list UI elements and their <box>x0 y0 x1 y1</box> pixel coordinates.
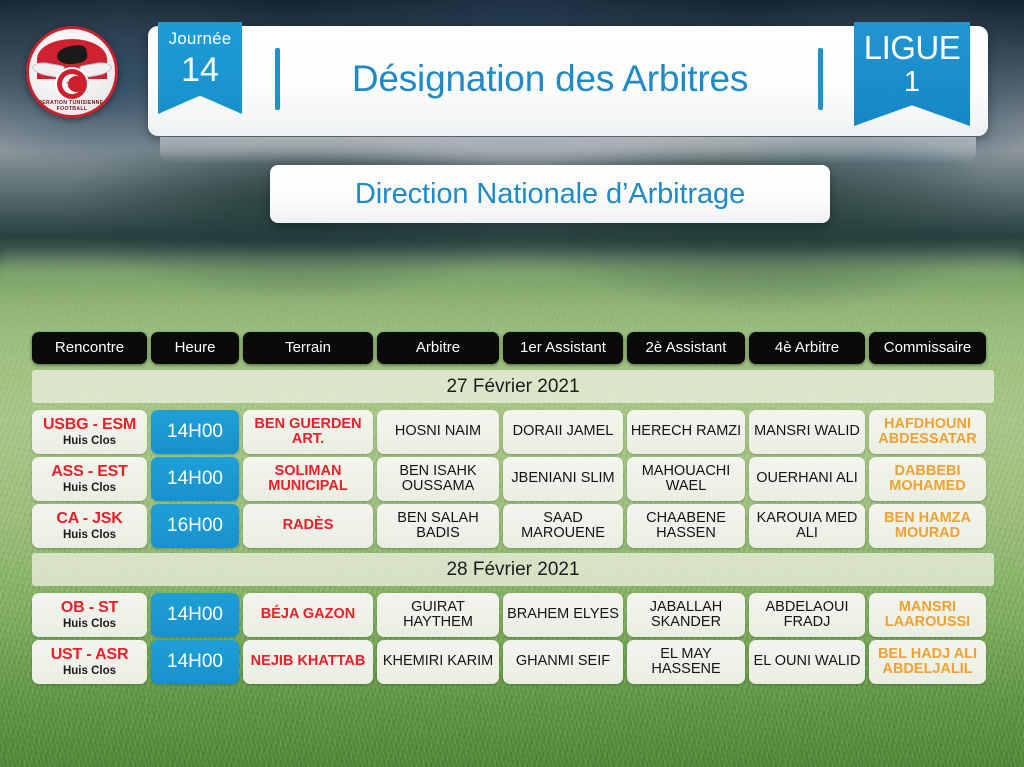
cell-heure: 14H00 <box>151 457 239 501</box>
table-body: 27 Février 2021USBG - ESMHuis Clos14H00B… <box>32 370 994 684</box>
cell-line: SAAD <box>543 511 583 526</box>
cell-rencontre: ASS - ESTHuis Clos <box>32 457 147 501</box>
cell-rencontre: OB - STHuis Clos <box>32 593 147 637</box>
cell-line: OUERHANI ALI <box>756 471 858 486</box>
cell-line: OUSSAMA <box>402 479 475 494</box>
match-note: Huis Clos <box>63 618 116 630</box>
cell-line: HOSNI NAIM <box>395 424 481 439</box>
cell-line: HAYTHEM <box>403 615 473 630</box>
cell-rencontre: UST - ASRHuis Clos <box>32 640 147 684</box>
cell-terrain: NEJIB KHATTAB <box>243 640 373 684</box>
cell-arbitre: BEN SALAHBADIS <box>377 504 499 548</box>
cell-commissaire: MANSRILAAROUSSI <box>869 593 986 637</box>
cell-arbitre-4: ABDELAOUIFRADJ <box>749 593 865 637</box>
table-row: UST - ASRHuis Clos14H00NEJIB KHATTABKHEM… <box>32 640 994 684</box>
table-row: OB - STHuis Clos14H00BÉJA GAZONGUIRATHAY… <box>32 593 994 637</box>
cell-rencontre: CA - JSKHuis Clos <box>32 504 147 548</box>
cell-line: GHANMI SEIF <box>516 654 610 669</box>
cell-commissaire: HAFDHOUNIABDESSATAR <box>869 410 986 454</box>
cell-line: MUNICIPAL <box>268 479 347 494</box>
star-icon: ★ <box>65 77 77 90</box>
cell-heure: 14H00 <box>151 593 239 637</box>
crest-caption: FEDERATION TUNISIENNE DE FOOTBALL <box>29 100 115 112</box>
column-header-arbitre: Arbitre <box>377 332 499 364</box>
matchday-number: 14 <box>158 49 242 89</box>
table-row: CA - JSKHuis Clos16H00RADÈSBEN SALAHBADI… <box>32 504 994 548</box>
cell-arbitre: KHEMIRI KARIM <box>377 640 499 684</box>
cell-assistant-2: CHAABENEHASSEN <box>627 504 745 548</box>
cell-line: ALI <box>796 526 818 541</box>
cell-line: SOLIMAN <box>275 464 342 479</box>
cell-line: BEN ISAHK <box>399 464 476 479</box>
cell-assistant-2: MAHOUACHIWAEL <box>627 457 745 501</box>
league-number: 1 <box>854 67 970 97</box>
cell-assistant-1: BRAHEM ELYES <box>503 593 623 637</box>
cell-assistant-2: JABALLAHSKANDER <box>627 593 745 637</box>
cell-line: BÉJA GAZON <box>261 607 356 622</box>
cell-assistant-1: SAADMAROUENE <box>503 504 623 548</box>
cell-arbitre: BEN ISAHKOUSSAMA <box>377 457 499 501</box>
cell-assistant-2: HERECH RAMZI <box>627 410 745 454</box>
federation-logo-icon: ★ FEDERATION TUNISIENNE DE FOOTBALL <box>26 26 118 118</box>
cell-line: JBENIANI SLIM <box>511 471 614 486</box>
cell-line: MANSRI <box>899 600 956 615</box>
cell-line: KHEMIRI KARIM <box>383 654 493 669</box>
cell-terrain: BEN GUERDENART. <box>243 410 373 454</box>
cell-assistant-1: GHANMI SEIF <box>503 640 623 684</box>
column-header-rencontre: Rencontre <box>32 332 147 364</box>
cell-terrain: RADÈS <box>243 504 373 548</box>
cell-arbitre: HOSNI NAIM <box>377 410 499 454</box>
cell-line: BEL HADJ ALI <box>878 647 977 662</box>
column-header-assistant-1: 1er Assistant <box>503 332 623 364</box>
cell-arbitre: GUIRATHAYTHEM <box>377 593 499 637</box>
match-note: Huis Clos <box>63 529 116 541</box>
cell-line: BEN SALAH <box>397 511 478 526</box>
subtitle-text: Direction Nationale d’Arbitrage <box>355 178 745 211</box>
cell-line: HASSENE <box>651 662 720 677</box>
cell-line: MANSRI WALID <box>754 424 860 439</box>
date-separator-row: 28 Février 2021 <box>32 553 994 586</box>
cell-arbitre-4: EL OUNI WALID <box>749 640 865 684</box>
match-note: Huis Clos <box>63 435 116 447</box>
cell-line: LAAROUSSI <box>885 615 970 630</box>
cell-commissaire: DABBEBIMOHAMED <box>869 457 986 501</box>
cell-line: ABDELJALIL <box>882 662 972 677</box>
cell-line: RADÈS <box>283 518 334 533</box>
page-title: Désignation des Arbitres <box>300 58 800 100</box>
cell-heure: 14H00 <box>151 410 239 454</box>
cell-line: BEN HAMZA <box>884 511 971 526</box>
cell-line: DORAII JAMEL <box>513 424 614 439</box>
cell-line: WAEL <box>666 479 707 494</box>
cell-line: FRADJ <box>784 615 831 630</box>
cell-line: BADIS <box>416 526 460 541</box>
cell-line: EL OUNI WALID <box>754 654 861 669</box>
match-code: OB - ST <box>61 600 118 617</box>
match-note: Huis Clos <box>63 665 116 677</box>
cell-assistant-1: JBENIANI SLIM <box>503 457 623 501</box>
column-header-arbitre-4: 4è Arbitre <box>749 332 865 364</box>
cell-arbitre-4: MANSRI WALID <box>749 410 865 454</box>
cell-line: NEJIB KHATTAB <box>251 654 366 669</box>
referee-assignments-table: RencontreHeureTerrainArbitre1er Assistan… <box>32 332 994 687</box>
cell-assistant-1: DORAII JAMEL <box>503 410 623 454</box>
poster-root: ★ FEDERATION TUNISIENNE DE FOOTBALL Jour… <box>0 0 1024 767</box>
cell-terrain: BÉJA GAZON <box>243 593 373 637</box>
cell-line: MOURAD <box>895 526 960 541</box>
cell-line: GUIRAT <box>411 600 465 615</box>
header-divider-left <box>275 48 280 110</box>
cell-line: HERECH RAMZI <box>631 424 741 439</box>
matchday-label: Journée <box>158 22 242 49</box>
cell-line: KAROUIA MED <box>757 511 858 526</box>
column-header-terrain: Terrain <box>243 332 373 364</box>
cell-line: JABALLAH <box>650 600 723 615</box>
header-reflection <box>160 137 976 163</box>
cell-rencontre: USBG - ESMHuis Clos <box>32 410 147 454</box>
column-header-commissaire: Commissaire <box>869 332 986 364</box>
cell-line: SKANDER <box>651 615 721 630</box>
cell-line: DABBEBI <box>894 464 960 479</box>
match-note: Huis Clos <box>63 482 116 494</box>
cell-line: ABDELAOUI <box>766 600 849 615</box>
cell-line: MAHOUACHI <box>642 464 731 479</box>
cell-line: MOHAMED <box>889 479 966 494</box>
table-row: USBG - ESMHuis Clos14H00BEN GUERDENART.H… <box>32 410 994 454</box>
header-divider-right <box>818 48 823 110</box>
subtitle-bar: Direction Nationale d’Arbitrage <box>270 165 830 223</box>
cell-line: BEN GUERDEN <box>254 417 361 432</box>
match-code: CA - JSK <box>56 511 122 528</box>
column-header-assistant-2: 2è Assistant <box>627 332 745 364</box>
cell-line: HAFDHOUNI <box>884 417 971 432</box>
cell-line: EL MAY <box>660 647 712 662</box>
cell-assistant-2: EL MAYHASSENE <box>627 640 745 684</box>
cell-heure: 14H00 <box>151 640 239 684</box>
cell-line: CHAABENE <box>646 511 726 526</box>
cell-line: ART. <box>292 432 324 447</box>
league-label: LIGUE <box>854 22 970 67</box>
table-row: ASS - ESTHuis Clos14H00SOLIMANMUNICIPALB… <box>32 457 994 501</box>
cell-arbitre-4: KAROUIA MEDALI <box>749 504 865 548</box>
match-code: USBG - ESM <box>43 417 136 434</box>
match-code: UST - ASR <box>51 647 129 664</box>
cell-line: HASSEN <box>656 526 716 541</box>
column-header-heure: Heure <box>151 332 239 364</box>
cell-heure: 16H00 <box>151 504 239 548</box>
table-header-row: RencontreHeureTerrainArbitre1er Assistan… <box>32 332 994 364</box>
cell-commissaire: BEN HAMZAMOURAD <box>869 504 986 548</box>
cell-arbitre-4: OUERHANI ALI <box>749 457 865 501</box>
cell-line: MAROUENE <box>521 526 605 541</box>
date-separator-row: 27 Février 2021 <box>32 370 994 403</box>
match-code: ASS - EST <box>51 464 127 481</box>
cell-line: BRAHEM ELYES <box>507 607 619 622</box>
cell-line: ABDESSATAR <box>878 432 977 447</box>
cell-terrain: SOLIMANMUNICIPAL <box>243 457 373 501</box>
cell-commissaire: BEL HADJ ALIABDELJALIL <box>869 640 986 684</box>
